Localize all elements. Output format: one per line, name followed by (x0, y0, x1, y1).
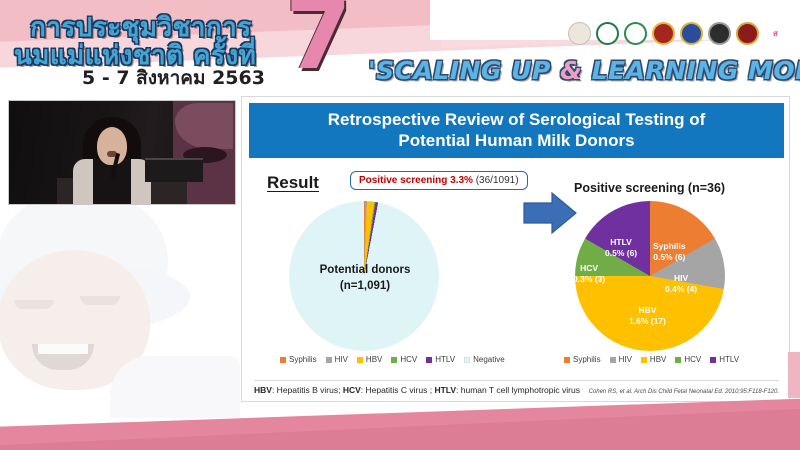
right-edge-pink-tab (788, 352, 800, 398)
slide-title-line1: Retrospective Review of Serological Test… (328, 110, 706, 130)
legend-swatch-syphilis-icon (280, 357, 286, 363)
medical-council-logo (708, 22, 731, 45)
legend-item-right-hiv: HIV (610, 355, 632, 364)
slice-label-htlv-value: 0.5% (6) (605, 248, 637, 259)
legend-swatch-hcv-icon (391, 357, 397, 363)
blue-arrow-icon (522, 191, 578, 235)
speaker-face (97, 127, 127, 165)
legend-item-right-htlv: HTLV (710, 355, 739, 364)
laptop-icon (145, 158, 203, 182)
positive-screening-callout: Positive screening 3.3% (36/1091) (350, 171, 528, 190)
thaihealth-sss-logo: ส (764, 22, 787, 45)
callout-highlight-text: Positive screening 3.3% (359, 175, 473, 186)
royal-college-logo (680, 22, 703, 45)
legend-potential-donors: SyphilisHIVHBVHCVHTLVNegative (280, 355, 505, 364)
result-heading: Result (267, 173, 319, 193)
nursing-council-logo (624, 22, 647, 45)
legend-label-syphilis: Syphilis (289, 355, 317, 364)
legend-item-right-syphilis: Syphilis (564, 355, 601, 364)
legend-label-htlv: HTLV (435, 355, 455, 364)
legend-label-hiv: HIV (335, 355, 348, 364)
speaker-video-thumbnail[interactable] (8, 100, 236, 205)
legend-swatch-htlv-icon (710, 357, 716, 363)
legend-swatch-hbv-icon (641, 357, 647, 363)
slice-label-hcv-value: 0.3% (3) (573, 274, 605, 285)
legend-swatch-htlv-icon (426, 357, 432, 363)
legend-label-hbv: HBV (366, 355, 382, 364)
potential-donors-center-label: Potential donors (n=1,091) (270, 263, 460, 294)
legend-swatch-hiv-icon (610, 357, 616, 363)
legend-swatch-hiv-icon (326, 357, 332, 363)
slice-label-hiv-value: 0.4% (4) (665, 284, 697, 295)
legend-item-left-hiv: HIV (326, 355, 348, 364)
potential-donors-label-line2: (n=1,091) (340, 280, 390, 292)
slice-label-hcv: HCV 0.3% (3) (573, 263, 605, 284)
legend-swatch-negative-icon (464, 357, 470, 363)
legend-item-left-hbv: HBV (357, 355, 382, 364)
thai-pediatric-logo (652, 22, 675, 45)
legend-label-negative: Negative (473, 355, 505, 364)
slide-title: Retrospective Review of Serological Test… (249, 103, 784, 158)
positive-screening-chart-title: Positive screening (n=36) (574, 181, 725, 195)
tagline-part1: 'SCALING UP (368, 56, 560, 85)
legend-item-right-hcv: HCV (675, 355, 701, 364)
slice-label-hbv-value: 1.6% (17) (629, 316, 666, 327)
slide-title-line2: Potential Human Milk Donors (398, 131, 634, 151)
sponsor-logo-row: ส (568, 22, 787, 45)
legend-item-left-htlv: HTLV (426, 355, 455, 364)
breastfeeding-center-logo (736, 22, 759, 45)
callout-sub-text: (36/1091) (473, 175, 519, 186)
slide-footnote: HBV: Hepatitis B virus; HCV: Hepatitis C… (254, 380, 779, 395)
legend-label-hiv: HIV (619, 355, 632, 364)
slice-label-hbv: HBV 1.6% (17) (629, 305, 666, 326)
footer-pink-band (0, 394, 800, 450)
legend-swatch-hcv-icon (675, 357, 681, 363)
legend-label-htlv: HTLV (719, 355, 739, 364)
conference-edition-number: 7 (285, 0, 352, 83)
positive-screening-pie-chart: Syphilis 0.5% (6) HIV 0.4% (4) HBV 1.6% … (575, 201, 725, 351)
conference-tagline: 'SCALING UP & LEARNING MORE' (368, 56, 800, 85)
legend-swatch-syphilis-icon (564, 357, 570, 363)
potential-donors-label-line1: Potential donors (320, 264, 411, 276)
tagline-part2: LEARNING MORE' (582, 56, 800, 85)
conference-date: 5 - 7 สิงหาคม 2563 (82, 63, 265, 93)
presentation-slide: Retrospective Review of Serological Test… (241, 96, 790, 402)
conference-header-banner: การประชุมวิชาการ นมแม่แห่งชาติ ครั้งที่ … (0, 0, 800, 95)
slice-label-htlv: HTLV 0.5% (6) (605, 237, 637, 258)
legend-label-hcv: HCV (400, 355, 417, 364)
slice-label-syphilis-name: Syphilis (653, 241, 686, 251)
potential-donors-pie-chart: Potential donors (n=1,091) (270, 201, 460, 351)
legend-item-left-negative: Negative (464, 355, 505, 364)
slice-label-syphilis-value: 0.5% (6) (653, 252, 686, 263)
legend-item-left-syphilis: Syphilis (280, 355, 317, 364)
background-child-watermark-image (0, 188, 242, 418)
royal-seal-logo (568, 22, 591, 45)
slice-label-hcv-name: HCV (580, 263, 598, 273)
slice-label-hiv-name: HIV (674, 273, 688, 283)
legend-positive-screening: SyphilisHIVHBVHCVHTLV (564, 355, 739, 364)
legend-item-left-hcv: HCV (391, 355, 417, 364)
ministry-health-logo (596, 22, 619, 45)
slice-label-hbv-name: HBV (638, 305, 656, 315)
presentation-screenshot: การประชุมวิชาการ นมแม่แห่งชาติ ครั้งที่ … (0, 0, 800, 450)
legend-label-syphilis: Syphilis (573, 355, 601, 364)
slice-label-htlv-name: HTLV (610, 237, 632, 247)
legend-label-hcv: HCV (684, 355, 701, 364)
legend-item-right-hbv: HBV (641, 355, 666, 364)
slice-label-syphilis: Syphilis 0.5% (6) (653, 241, 686, 262)
slice-label-hiv: HIV 0.4% (4) (665, 273, 697, 294)
legend-label-hbv: HBV (650, 355, 666, 364)
tagline-ampersand: & (560, 56, 582, 85)
legend-swatch-hbv-icon (357, 357, 363, 363)
